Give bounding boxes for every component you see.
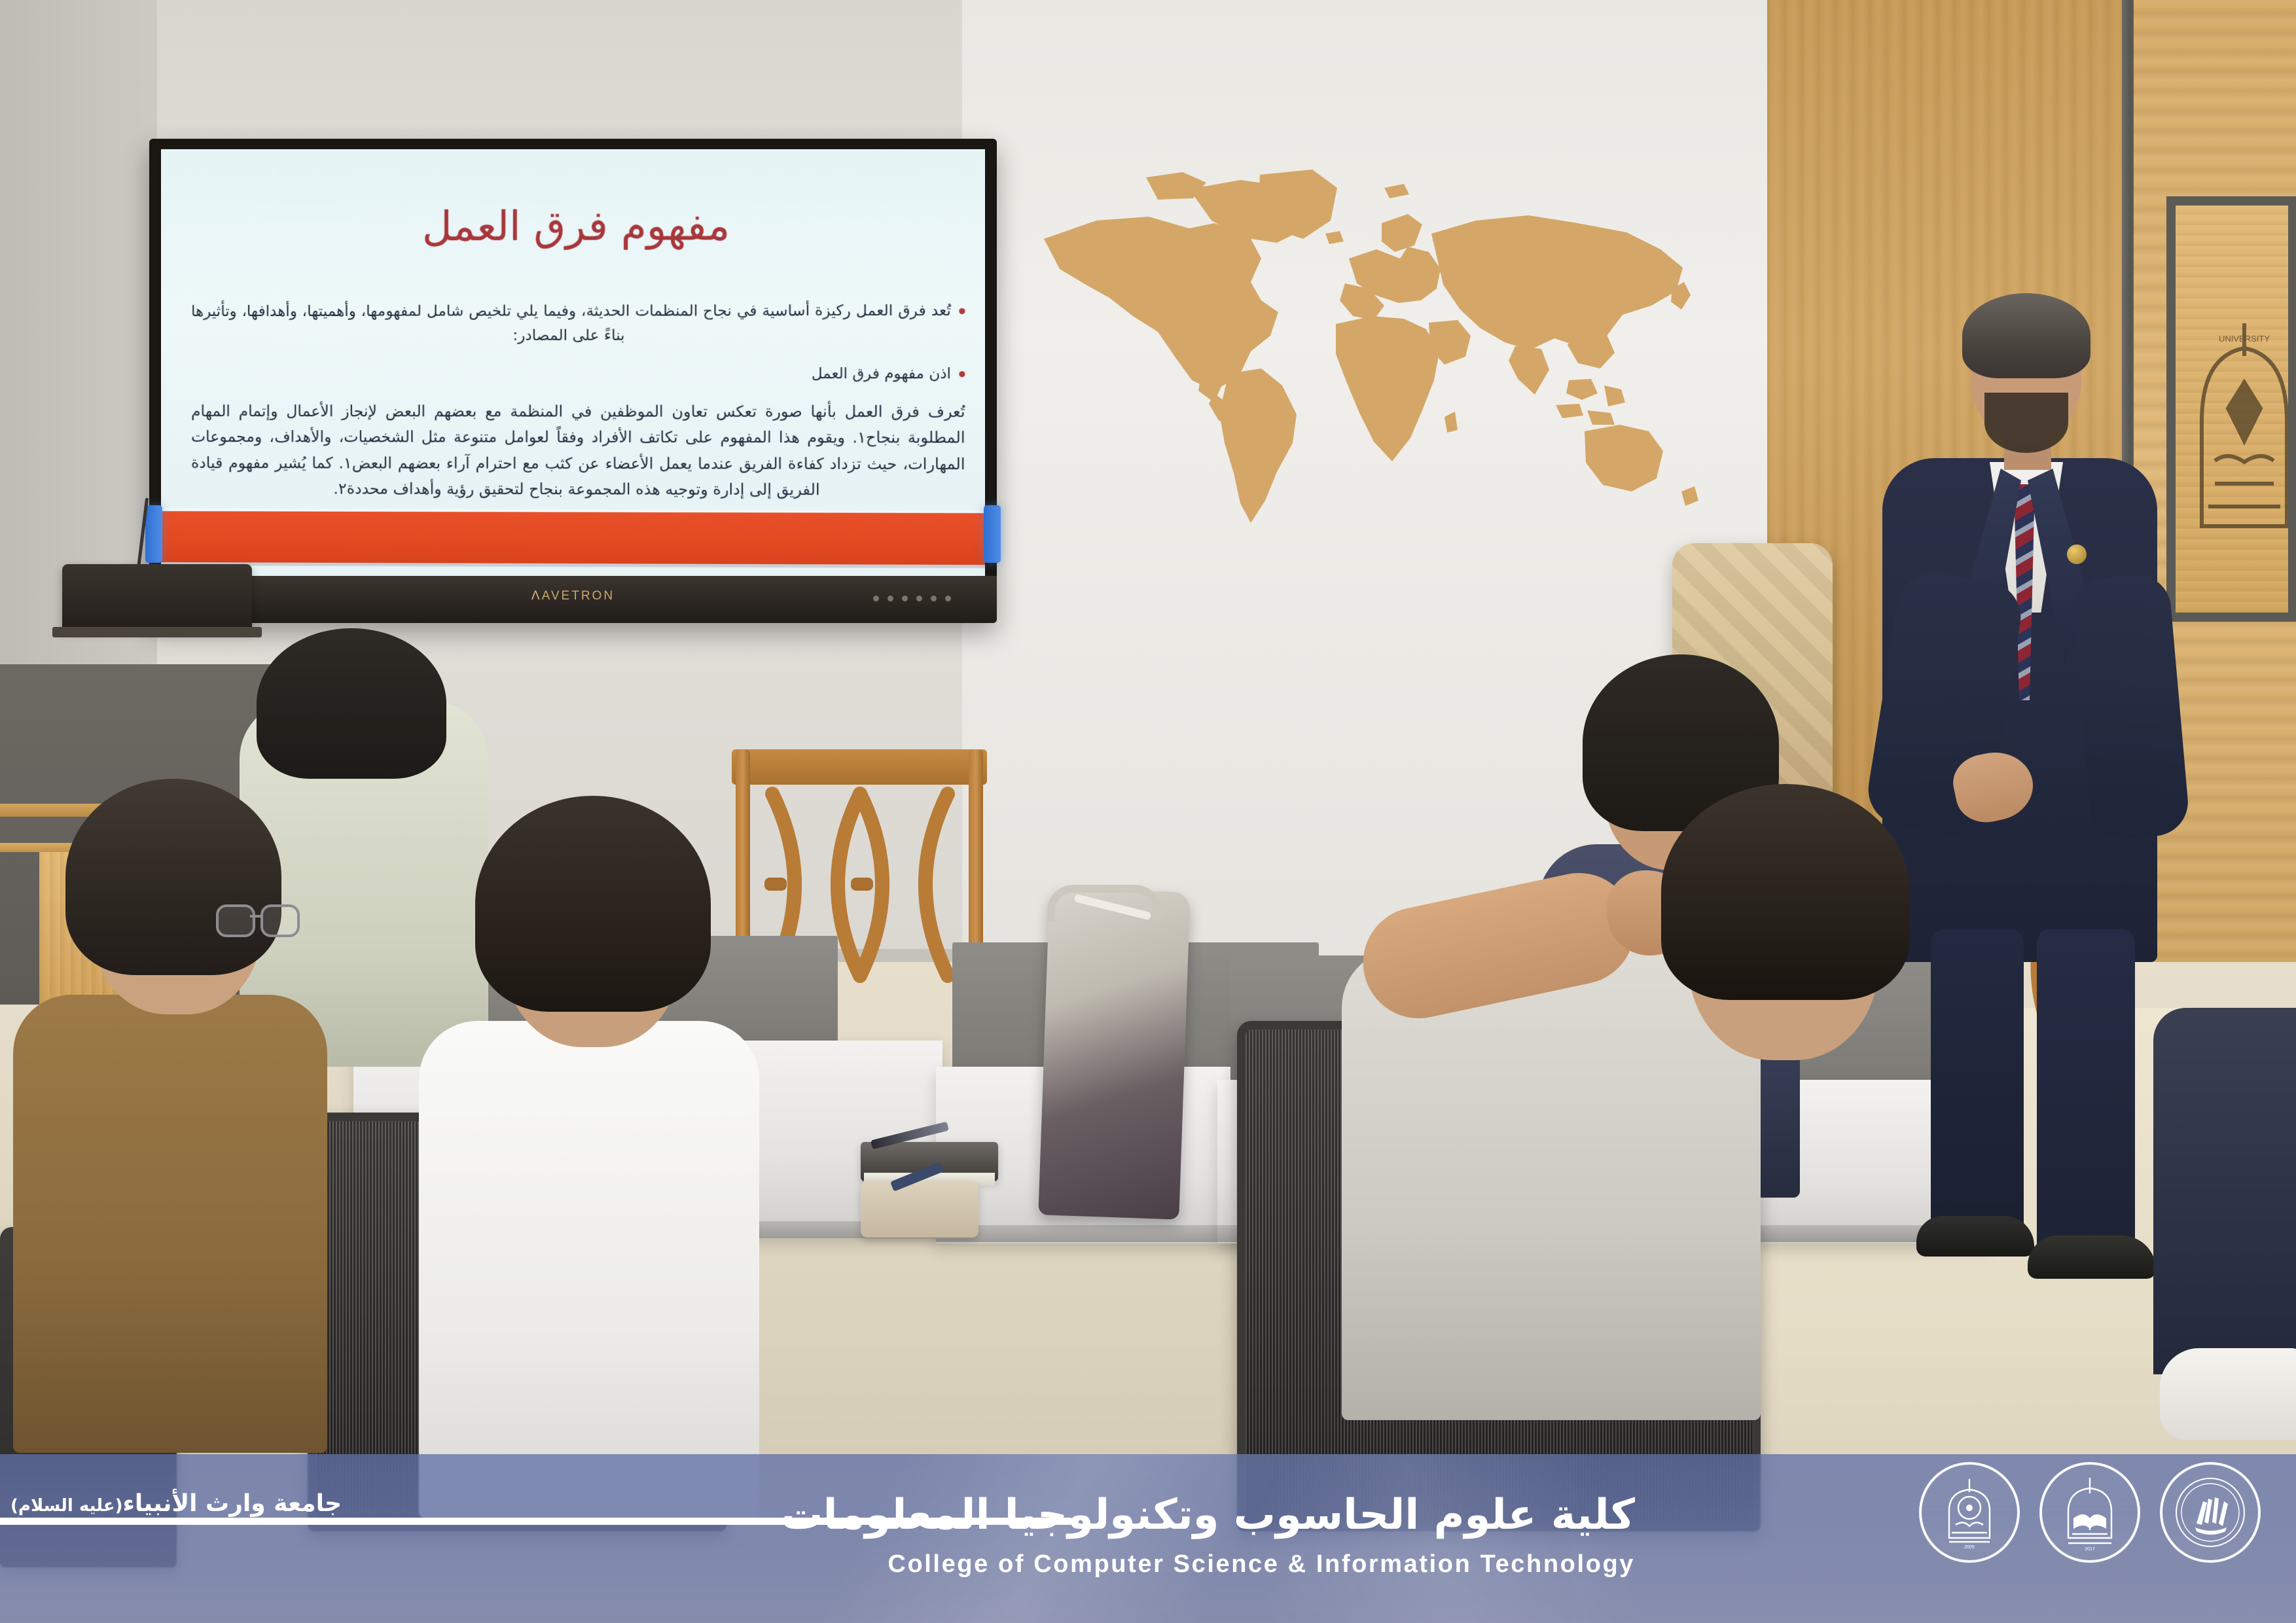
ministry-higher-education-logo [2160,1462,2261,1563]
college-name-arabic: كلية علوم الحاسوب وتكنولوجيا المعلومات [781,1491,1635,1539]
bullet-dot-icon [959,308,965,314]
university-warith-logo: 2017 [2039,1462,2140,1563]
student-hair [257,628,446,779]
presenter-lapel-pin [2067,544,2087,564]
display-side-button-left[interactable] [145,505,162,563]
student-hair [65,779,281,975]
presenter-shoe-right [2028,1236,2156,1279]
university-name-honorific: (عليه السلام) [10,1496,123,1516]
pencil-case[interactable] [861,1181,978,1238]
college-name-english: College of Computer Science & Informatio… [888,1550,1635,1578]
university-name-text: جامعة وارث الأنبياء [123,1490,342,1517]
slide-body: تُعد فرق العمل ركيزة أساسية في نجاح المن… [191,299,965,504]
lectern-laptop[interactable] [62,564,252,630]
lectern-laptop-base [52,627,262,637]
display-bezel-bottom: ΛAVETRON [149,576,997,623]
slide-bullet-text: تُعد فرق العمل ركيزة أساسية في نجاح المن… [191,299,951,349]
student-torso [2153,1008,2296,1374]
bottom-banner: جامعة وارث الأنبياء(عليه السلام) كلية عل… [0,1454,2296,1623]
slide-bullet: تُعد فرق العمل ركيزة أساسية في نجاح المن… [191,299,965,349]
svg-text:2017: 2017 [2085,1547,2095,1552]
brand-text: AVETRON [542,589,615,603]
student-shoe [2160,1348,2296,1440]
smart-display[interactable]: مفهوم فرق العمل تُعد فرق العمل ركيزة أسا… [149,139,997,623]
bullet-dot-icon [959,371,965,377]
display-screen: مفهوم فرق العمل تُعد فرق العمل ركيزة أسا… [161,149,985,576]
svg-text:2005: 2005 [1964,1545,1975,1550]
display-port-indicators [873,596,951,601]
university-emblem-engraving: UNIVERSITY [2182,310,2296,585]
student-hair [475,796,711,1012]
presenter-leg-right [2037,929,2135,1257]
eyeglasses-icon [216,904,295,933]
slide-bullet-text: اذن مفهوم فرق العمل [812,361,951,385]
svg-text:UNIVERSITY: UNIVERSITY [2219,334,2270,344]
wall-emblem-plaque: UNIVERSITY [2166,196,2296,622]
presenter-beard [1984,393,2068,453]
display-brand-label: ΛAVETRON [149,589,997,603]
slide-accent-band [161,508,985,568]
college-ccsit-logo: 2005 [1919,1462,2020,1563]
presentation-slide: مفهوم فرق العمل تُعد فرق العمل ركيزة أسا… [161,149,985,576]
laptop-bag[interactable] [1038,887,1190,1219]
student-torso [1342,949,1761,1420]
university-name-arabic: جامعة وارث الأنبياء(عليه السلام) [10,1490,342,1517]
student-torso [419,1021,759,1518]
presenter-shoe-left [1916,1216,2034,1257]
slide-paragraph: تُعرف فرق العمل بأنها صورة تعكس تعاون ال… [191,399,965,504]
student-torso [13,995,327,1453]
student-hair [1661,784,1910,1000]
logo-group: 2005 2017 [1919,1462,2261,1563]
slide-bullet: اذن مفهوم فرق العمل [191,361,965,385]
presenter-leg-left [1931,929,2024,1237]
presenter-hair [1962,293,2090,378]
brand-chevron-icon: Λ [531,589,542,603]
world-map-wall-decal [1018,160,1751,566]
display-side-button-right[interactable] [984,505,1001,563]
slide-title: مفهوم فرق العمل [207,201,949,251]
classroom-photo-scene: UNIVERSITY [0,0,2296,1623]
